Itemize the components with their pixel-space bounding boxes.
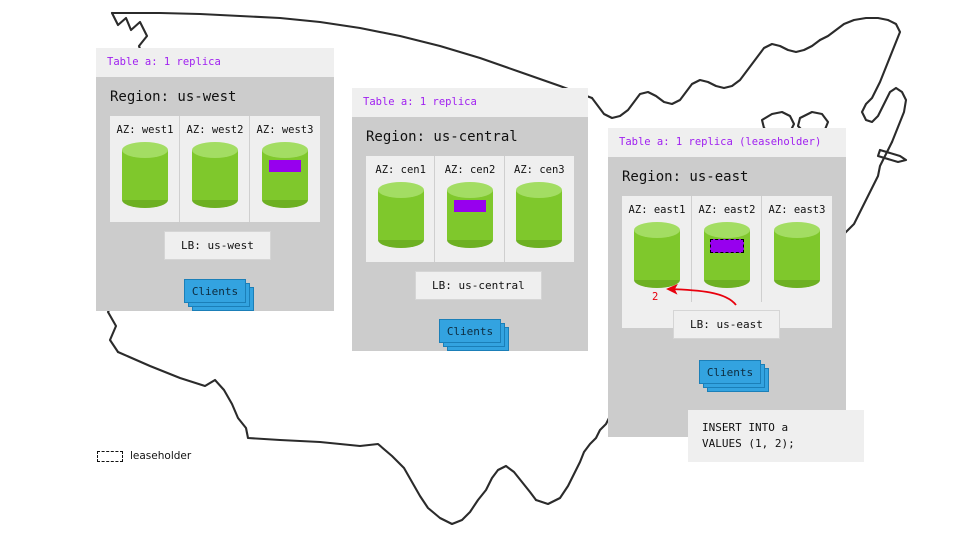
region-body-us-central: Region: us-central AZ: cen1 AZ: cen2 — [352, 117, 588, 351]
cylinder-top — [634, 222, 680, 238]
db-node-west1[interactable] — [122, 142, 168, 208]
region-cluster-us-west: Table a: 1 replica Region: us-west AZ: w… — [96, 48, 334, 311]
az-row-us-east: AZ: east1 AZ: east2 — [622, 196, 832, 329]
legend: leaseholder — [97, 450, 191, 462]
cylinder-top — [262, 142, 308, 158]
db-node-cen2[interactable] — [447, 182, 493, 248]
region-title-us-central: Region: us-central — [352, 117, 588, 156]
az-cen3[interactable]: AZ: cen3 — [505, 156, 574, 263]
az-east3[interactable]: AZ: east3 — [762, 196, 832, 303]
region-title-us-east: Region: us-east — [608, 157, 846, 196]
az-cen1[interactable]: AZ: cen1 — [366, 156, 435, 263]
replica-marker — [269, 160, 301, 172]
region-cluster-us-central: Table a: 1 replica Region: us-central AZ… — [352, 88, 588, 351]
az-row-us-west: AZ: west1 AZ: west2 — [110, 116, 320, 223]
az-east2[interactable]: AZ: east2 — [692, 196, 762, 303]
az-label-west2: AZ: west2 — [180, 125, 250, 136]
cylinder-top — [774, 222, 820, 238]
az-label-cen1: AZ: cen1 — [366, 165, 435, 176]
cylinder-top — [704, 222, 750, 238]
region-title-us-west: Region: us-west — [96, 77, 334, 116]
az-label-west3: AZ: west3 — [250, 125, 320, 136]
clients-us-west[interactable]: Clients — [184, 279, 246, 303]
load-balancer-us-west[interactable]: LB: us-west — [164, 231, 271, 260]
az-west2[interactable]: AZ: west2 — [180, 116, 250, 223]
az-west1[interactable]: AZ: west1 — [110, 116, 180, 223]
cluster-header-us-west: Table a: 1 replica — [96, 48, 334, 77]
db-node-east1[interactable] — [634, 222, 680, 288]
db-node-east2[interactable] — [704, 222, 750, 288]
clients-us-east[interactable]: Clients — [699, 360, 761, 384]
cylinder-top — [122, 142, 168, 158]
az-label-east2: AZ: east2 — [692, 205, 762, 216]
cylinder-top — [516, 182, 562, 198]
az-label-cen3: AZ: cen3 — [505, 165, 574, 176]
az-label-west1: AZ: west1 — [110, 125, 180, 136]
load-balancer-us-east[interactable]: LB: us-east — [673, 310, 780, 339]
cylinder-top — [447, 182, 493, 198]
db-node-west2[interactable] — [192, 142, 238, 208]
leaseholder-replica-marker — [710, 239, 744, 253]
clients-us-central[interactable]: Clients — [439, 319, 501, 343]
cluster-header-us-central: Table a: 1 replica — [352, 88, 588, 117]
load-balancer-us-central[interactable]: LB: us-central — [415, 271, 542, 300]
db-node-cen3[interactable] — [516, 182, 562, 248]
dashed-rectangle-icon — [97, 451, 123, 462]
cluster-header-us-east: Table a: 1 replica (leaseholder) — [608, 128, 846, 157]
az-west3[interactable]: AZ: west3 — [250, 116, 320, 223]
az-east1[interactable]: AZ: east1 — [622, 196, 692, 303]
region-body-us-west: Region: us-west AZ: west1 AZ: west2 — [96, 77, 334, 311]
replica-marker — [454, 200, 486, 212]
clients-label: Clients — [184, 279, 246, 303]
db-node-west3[interactable] — [262, 142, 308, 208]
az-row-us-central: AZ: cen1 AZ: cen2 — [366, 156, 574, 263]
clients-label: Clients — [699, 360, 761, 384]
legend-label: leaseholder — [130, 450, 191, 462]
cylinder-top — [192, 142, 238, 158]
region-cluster-us-east: Table a: 1 replica (leaseholder) Region:… — [608, 128, 846, 437]
diagram-canvas: Table a: 1 replica Region: us-west AZ: w… — [0, 0, 960, 540]
az-cen2[interactable]: AZ: cen2 — [435, 156, 504, 263]
region-body-us-east: Region: us-east AZ: east1 AZ: east2 — [608, 157, 846, 437]
sql-statement-note: INSERT INTO a VALUES (1, 2); — [688, 410, 864, 462]
cylinder-top — [378, 182, 424, 198]
az-label-east3: AZ: east3 — [762, 205, 832, 216]
clients-label: Clients — [439, 319, 501, 343]
db-node-east3[interactable] — [774, 222, 820, 288]
az-label-cen2: AZ: cen2 — [435, 165, 504, 176]
annotation-label-2: 2 — [652, 292, 658, 303]
db-node-cen1[interactable] — [378, 182, 424, 248]
az-label-east1: AZ: east1 — [622, 205, 692, 216]
